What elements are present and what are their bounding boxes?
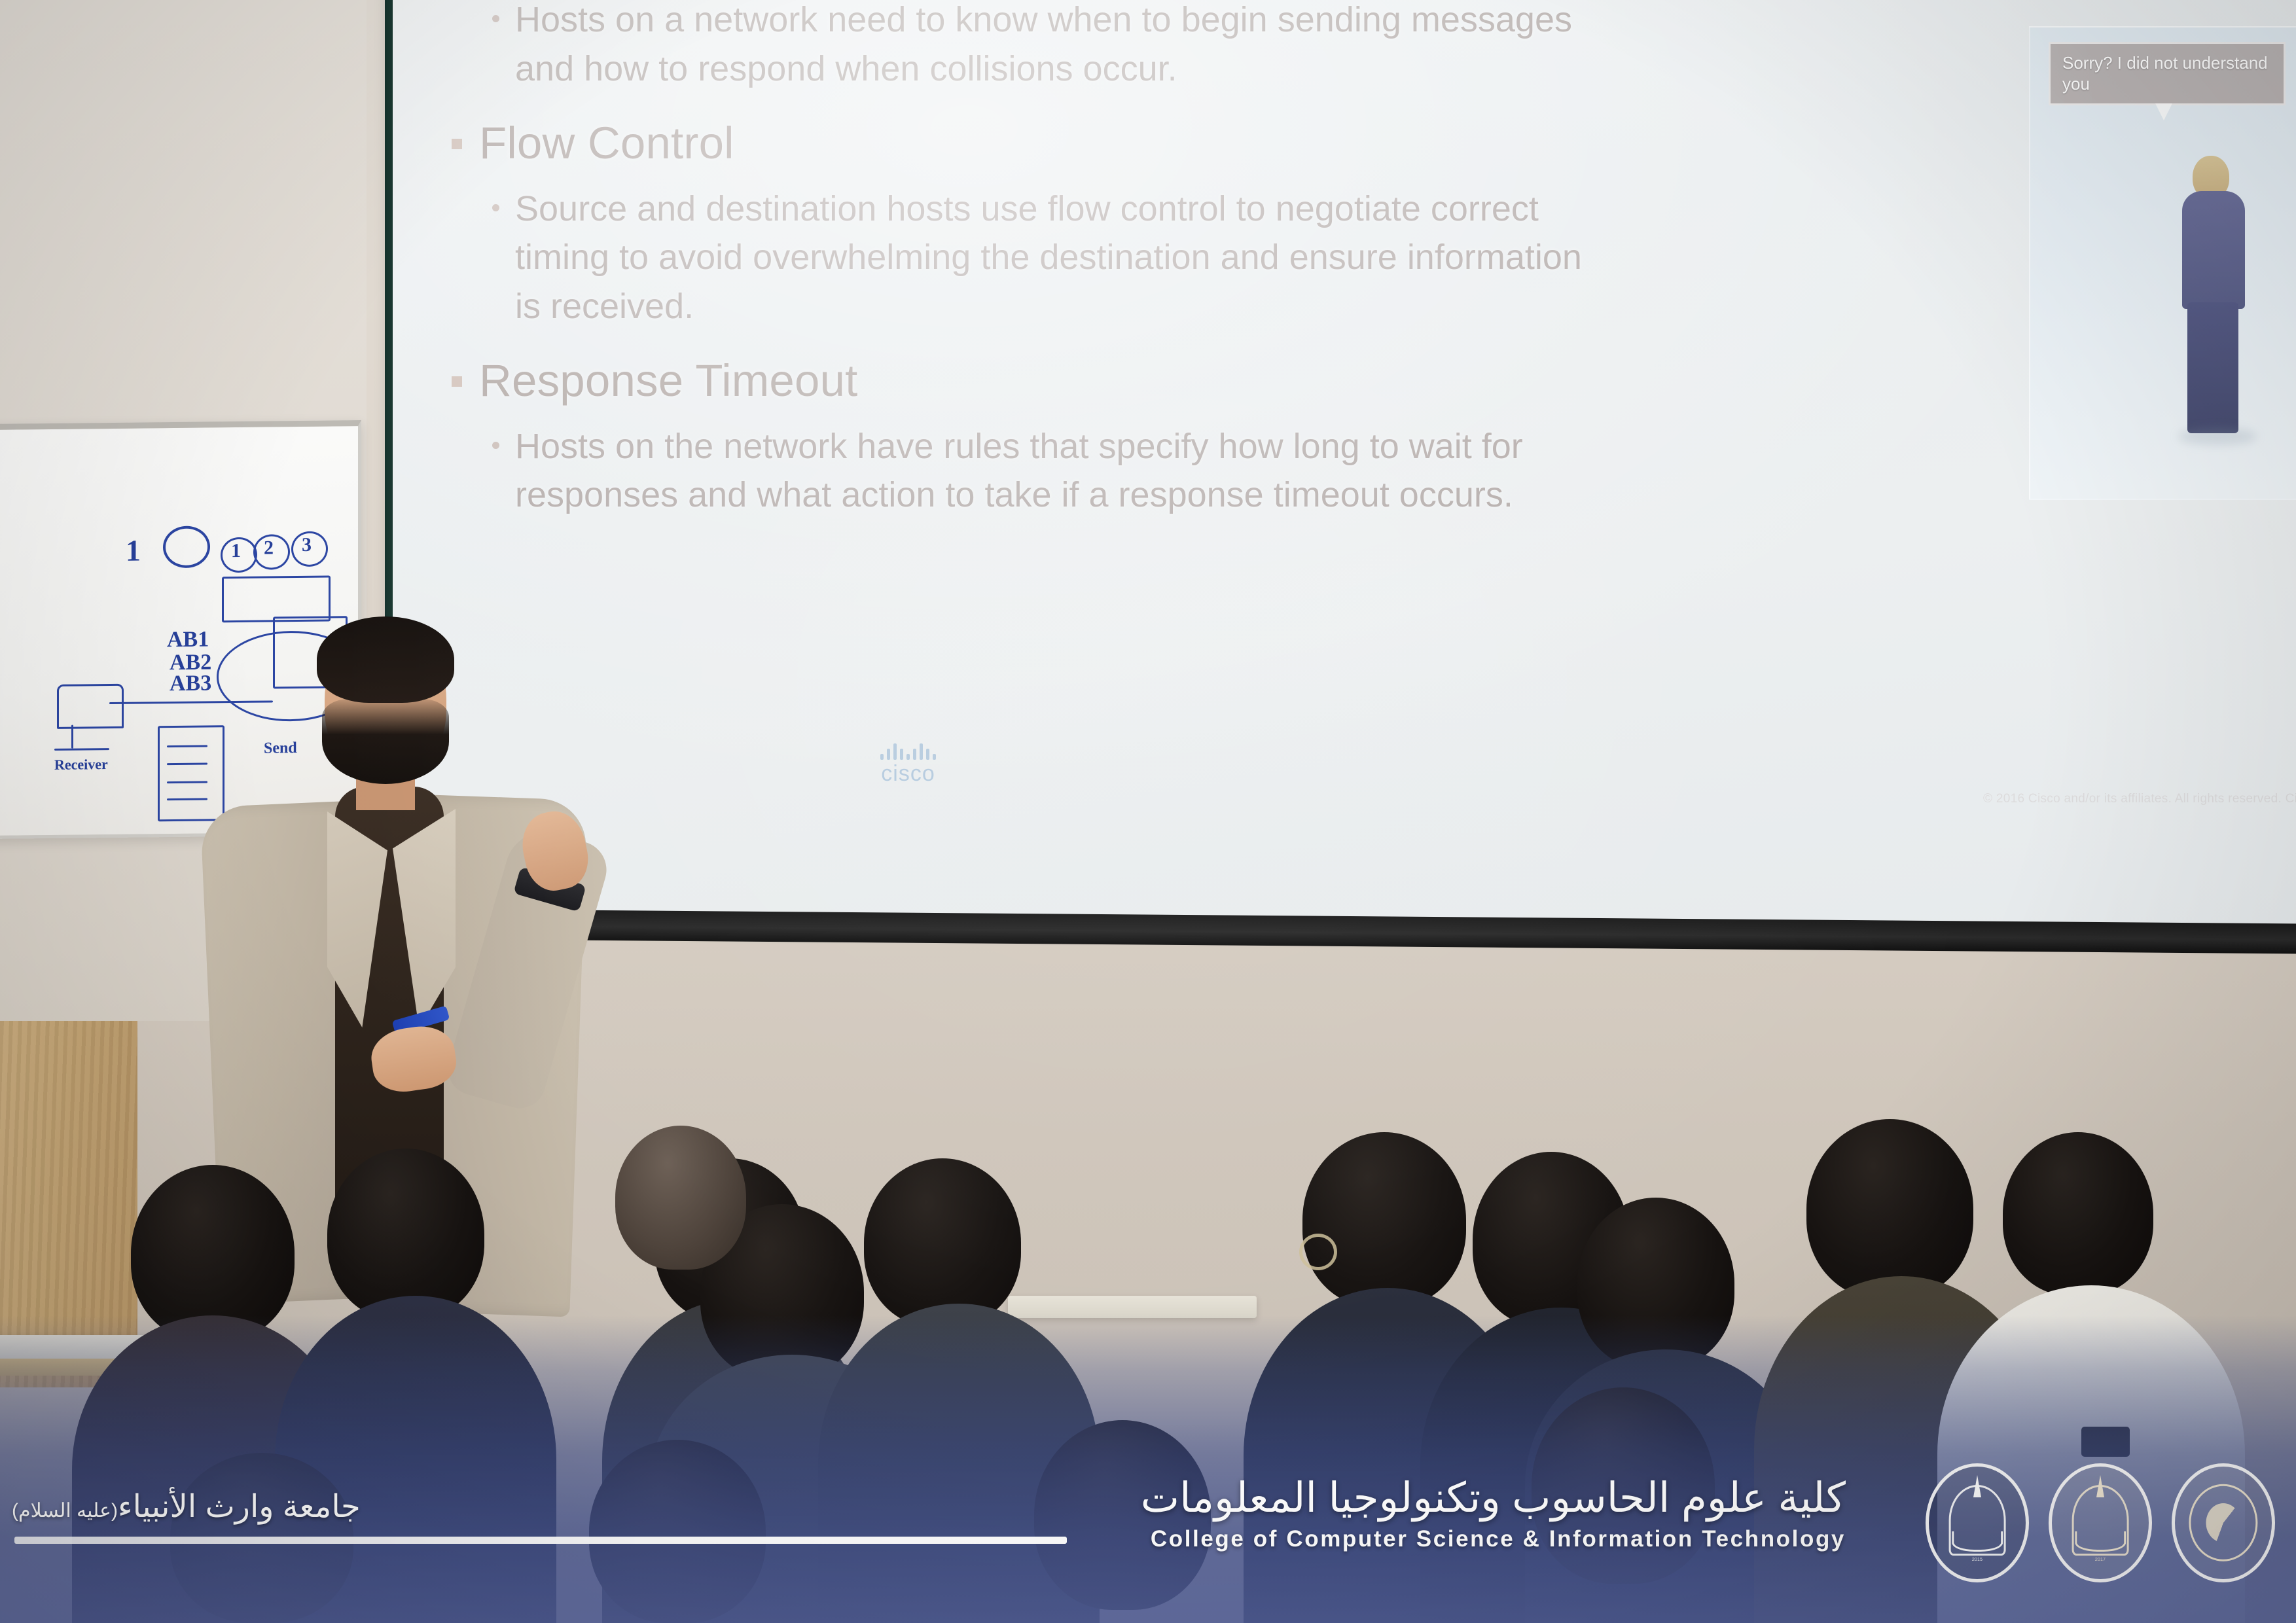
- college-name-english: College of Computer Science & Informatio…: [1086, 1526, 1846, 1552]
- university-name-arabic-suffix: (عليه السلام): [12, 1500, 118, 1522]
- slide-body-text: Hosts on a network need to know when to …: [515, 0, 1602, 93]
- seal-mark: 2015: [1939, 1480, 2015, 1566]
- bullet-dot-icon: [492, 442, 499, 449]
- slide-heading-flow-control: Flow Control: [452, 116, 1695, 169]
- slide-body-response-timeout: Hosts on the network have rules that spe…: [492, 422, 1695, 520]
- person-left-shadow: [2178, 428, 2257, 445]
- whiteboard-node-3: 3: [302, 534, 312, 556]
- slide-body-text: Hosts on the network have rules that spe…: [515, 422, 1602, 520]
- slide-illustration: Sorry? I did not understand you Sorry? I…: [2029, 26, 2296, 500]
- instructor-beard: [322, 699, 449, 784]
- sunburst-fan-icon: [2206, 1503, 2240, 1543]
- whiteboard-node-2: 2: [264, 537, 274, 559]
- person-left-torso: [2182, 191, 2245, 309]
- whiteboard-node-1: 1: [231, 540, 241, 562]
- whiteboard-arrow-loop: [163, 526, 210, 568]
- bullet-dot-icon: [492, 15, 499, 22]
- seal-mark: 2017: [2062, 1480, 2138, 1566]
- university-name-arabic: جامعة وارث الأنبياء(عليه السلام): [12, 1488, 361, 1525]
- person-left-legs: [2187, 302, 2238, 433]
- photo-frame: 1 1 2 3 AB1 AB2 AB3 Receiver Send: [0, 0, 2296, 1623]
- slide-body-text: Source and destination hosts use flow co…: [515, 185, 1602, 331]
- whiteboard-label-receiver: Receiver: [54, 756, 108, 774]
- bullet-dot-icon: [492, 204, 499, 211]
- university-name-arabic-text: جامعة وارث الأنبياء: [118, 1489, 361, 1524]
- whiteboard-receiver-stem: [71, 725, 73, 749]
- speech-bubble-left: Sorry? I did not understand you: [2049, 42, 2286, 105]
- open-book-icon: [1952, 1531, 2003, 1552]
- audience-head: [864, 1158, 1021, 1327]
- cisco-wordmark: cisco: [880, 761, 936, 787]
- banner-divider-rule: [14, 1537, 1067, 1544]
- slide-heading-text: Flow Control: [479, 116, 734, 169]
- open-book-icon: [2075, 1531, 2126, 1552]
- slide-copyright-footer: © 2016 Cisco and/or its affiliates. All …: [1983, 792, 2296, 806]
- university-seal-gold-logo: 2017: [2049, 1463, 2152, 1582]
- projection-screen: Access Method Hosts on a network need to…: [393, 0, 2296, 931]
- audience-head: [2003, 1132, 2153, 1296]
- slide-body-access-method: Hosts on a network need to know when to …: [492, 0, 1695, 93]
- slide-heading-text: Response Timeout: [479, 354, 858, 407]
- audience-head: [1806, 1119, 1973, 1299]
- cisco-logo: cisco: [880, 743, 936, 787]
- ministry-seal-logo: [2172, 1463, 2275, 1582]
- logo-row: 2015 2017: [1926, 1463, 2275, 1582]
- cisco-bars-icon: [880, 743, 936, 760]
- instructor-hair: [317, 616, 454, 703]
- whiteboard-receiver-base: [54, 748, 109, 751]
- seal-year: 2015: [1939, 1558, 2015, 1562]
- whiteboard-receiver-box: [57, 684, 124, 729]
- slide-body-flow-control: Source and destination hosts use flow co…: [492, 185, 1695, 331]
- bullet-square-icon: [452, 376, 462, 387]
- brand-banner: جامعة وارث الأنبياء(عليه السلام) كلية عل…: [0, 1453, 2296, 1623]
- university-seal-dark-logo: 2015: [1926, 1463, 2029, 1582]
- slide-heading-response-timeout: Response Timeout: [452, 354, 1695, 407]
- college-name-arabic: كلية علوم الحاسوب وتكنولوجيا المعلومات: [1086, 1476, 1846, 1521]
- eyeglasses-icon: [1299, 1234, 1337, 1270]
- audience-head: [615, 1126, 746, 1270]
- slide-content: Access Method Hosts on a network need to…: [452, 0, 1695, 543]
- audience-head-with-glasses: [1302, 1132, 1466, 1308]
- bullet-square-icon: [452, 139, 462, 149]
- seal-year: 2017: [2062, 1558, 2138, 1562]
- audience-head: [327, 1149, 484, 1320]
- college-name-block: كلية علوم الحاسوب وتكنولوجيا المعلومات C…: [1086, 1476, 1846, 1552]
- whiteboard-note-1: 1: [126, 533, 141, 568]
- audience-head: [1577, 1198, 1734, 1369]
- desk-center: [1008, 1296, 1257, 1318]
- seal-mark: [2185, 1480, 2261, 1566]
